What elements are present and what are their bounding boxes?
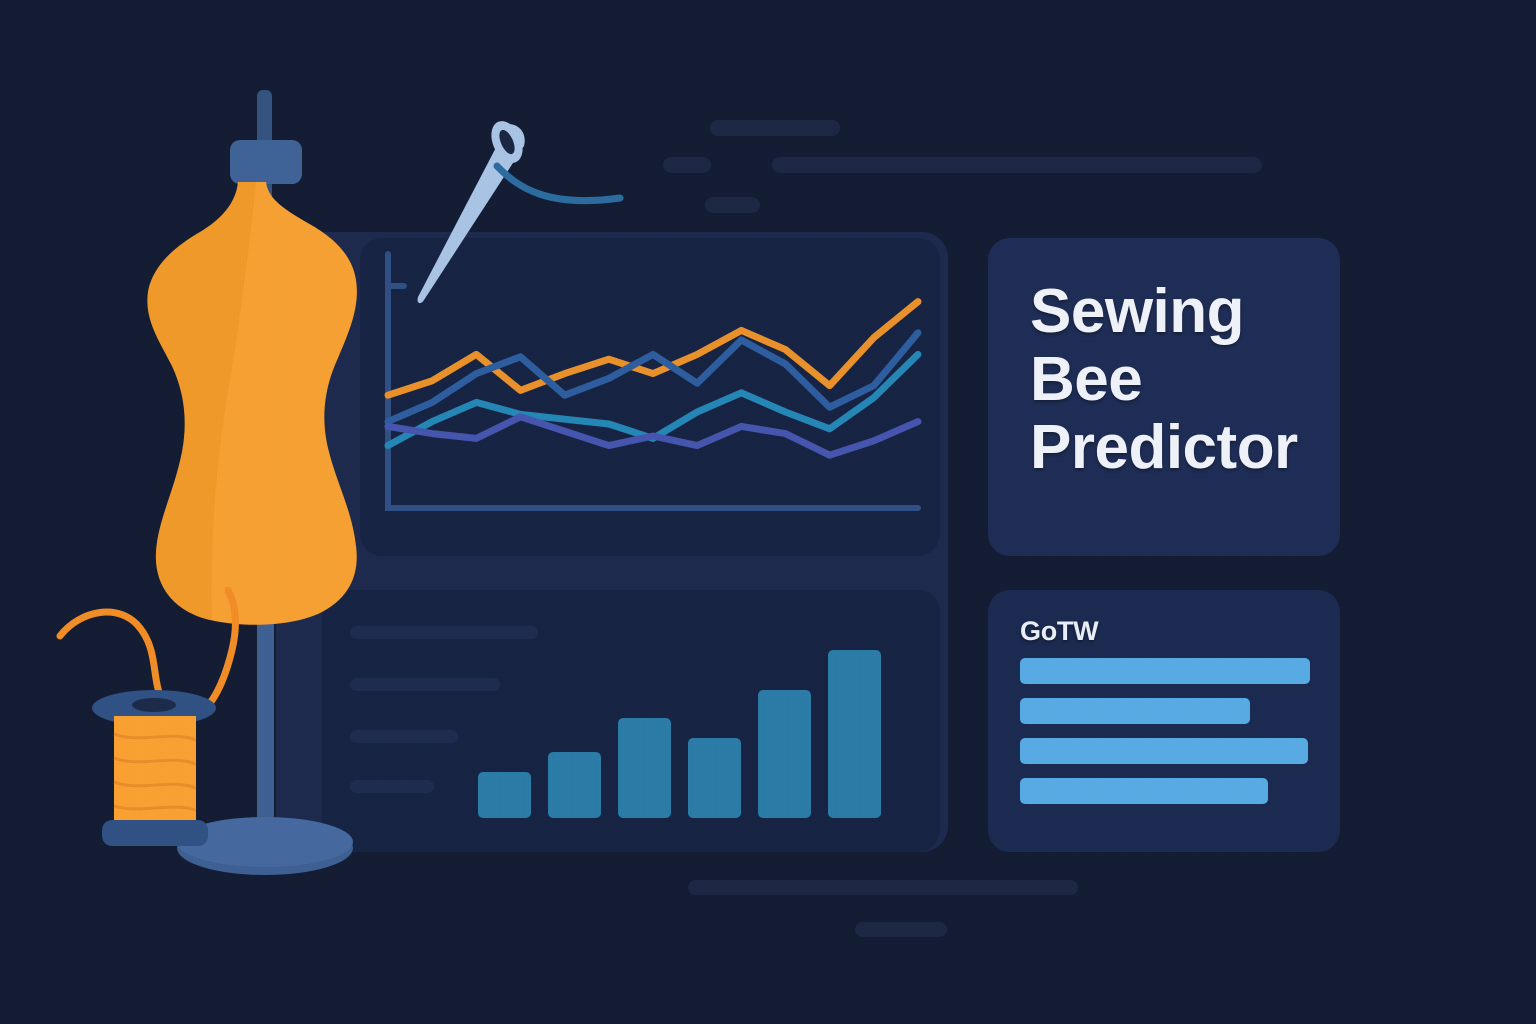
- bar-chart-bar: [548, 752, 601, 818]
- bar-chart-bar: [688, 738, 741, 818]
- decorative-bar: [705, 197, 760, 213]
- bar-chart-bar: [828, 650, 881, 818]
- bar-chart-panel[interactable]: [322, 590, 940, 852]
- gotw-bar[interactable]: [1020, 778, 1268, 804]
- decorative-bar: [855, 922, 947, 937]
- bar-chart-bar: [478, 772, 531, 818]
- gotw-bar[interactable]: [1020, 738, 1308, 764]
- placeholder-line: [350, 626, 538, 639]
- needle-thread: [497, 166, 620, 201]
- placeholder-line: [350, 678, 500, 691]
- placeholder-line: [350, 730, 458, 743]
- spool-bottom-cap: [102, 820, 208, 846]
- gotw-card[interactable]: GoTW: [988, 590, 1340, 852]
- bar-chart-bar: [758, 690, 811, 818]
- sewing-needle-icon: [390, 100, 630, 320]
- spool-hole: [132, 698, 176, 712]
- chart-series-group: [388, 302, 918, 456]
- thread-spool-icon: [50, 580, 290, 880]
- decorative-bar: [710, 120, 840, 136]
- mannequin-collar: [230, 140, 302, 184]
- placeholder-line: [350, 780, 434, 793]
- gotw-label: GoTW: [1020, 616, 1098, 647]
- title-card[interactable]: Sewing Bee Predictor: [988, 238, 1340, 556]
- decorative-bar: [772, 157, 1262, 173]
- page-title: Sewing Bee Predictor: [1030, 278, 1322, 483]
- decorative-bar: [663, 157, 711, 173]
- gotw-bar[interactable]: [1020, 658, 1310, 684]
- gotw-bar[interactable]: [1020, 698, 1250, 724]
- decorative-bar: [688, 880, 1078, 895]
- illustration-canvas: Sewing Bee Predictor GoTW: [0, 0, 1536, 1024]
- bar-chart-bar: [618, 718, 671, 818]
